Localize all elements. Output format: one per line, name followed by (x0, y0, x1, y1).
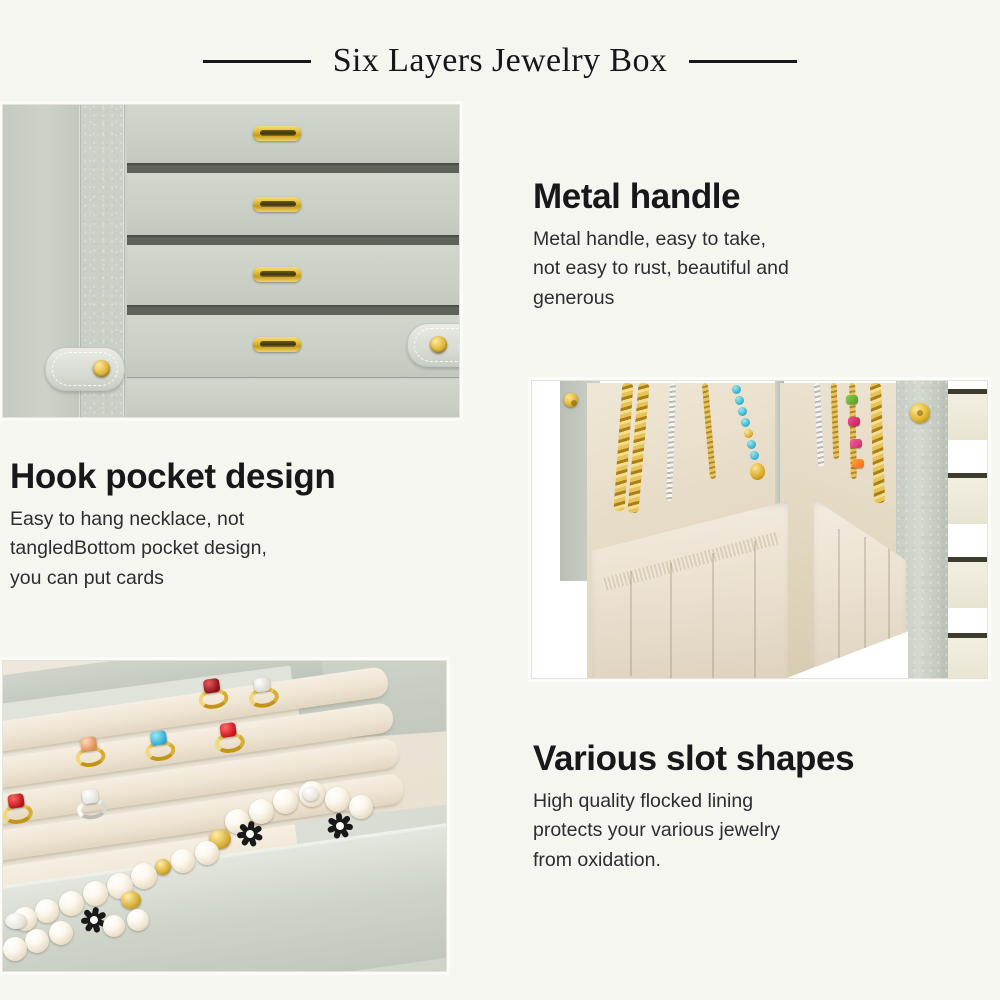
feature-body-various-slot-shapes: High quality flocked lining protects you… (533, 787, 973, 875)
pearl (127, 909, 149, 931)
side-drawer-3 (948, 557, 987, 608)
drawer-gap-2 (127, 237, 459, 245)
pocket-fold (670, 563, 672, 678)
drawer-gap-1 (127, 165, 459, 173)
feature-various-slot-shapes: Various slot shapes High quality flocked… (533, 740, 973, 875)
ring-gem (203, 678, 221, 694)
page-title: Six Layers Jewelry Box (333, 42, 668, 80)
feature-heading-hook-pocket: Hook pocket design (10, 458, 450, 495)
pocket-fold (838, 529, 840, 674)
pearl-necklaces (3, 781, 423, 971)
turquoise-bead (735, 396, 744, 405)
drawer-row-1 (127, 105, 459, 165)
side-drawer-1 (948, 389, 987, 440)
pocket-fold (712, 553, 714, 678)
turquoise-bead (732, 385, 741, 394)
drawer-row-3 (127, 245, 459, 307)
side-drawer-stack (948, 381, 987, 678)
flower-charm-1 (233, 817, 267, 851)
side-drawer-4 (948, 633, 987, 679)
hook-pocket-photo (531, 380, 988, 679)
gold-coin-bead (121, 891, 141, 909)
ring-blue-topaz (141, 729, 179, 764)
gem-orange (852, 459, 864, 468)
pearl (49, 921, 73, 945)
side-gold-button (910, 403, 930, 423)
ring-tray-photo (2, 660, 447, 972)
ring-gem (253, 677, 271, 693)
drawers-photo (2, 104, 460, 418)
pearl (195, 841, 219, 865)
pearl (171, 849, 195, 873)
feature-body-metal-handle: Metal handle, easy to take, not easy to … (533, 225, 953, 313)
turquoise-bead (738, 407, 747, 416)
turquoise-bead (750, 451, 759, 460)
flower-charm-2 (324, 810, 357, 843)
turquoise-bead (747, 440, 756, 449)
lid-gold-stud (564, 393, 578, 407)
leather-strap-right (407, 323, 460, 367)
pearl (3, 937, 27, 961)
ring-gem (219, 722, 237, 738)
crystal-accent (5, 913, 27, 929)
feature-hook-pocket: Hook pocket design Easy to hang necklace… (10, 458, 450, 593)
title-rule-left (203, 60, 311, 63)
drawer-gap-3 (127, 307, 459, 315)
ring-dark-red (194, 677, 232, 712)
drawer-handle-1 (253, 126, 301, 141)
pearl (35, 899, 59, 923)
ring-peach (71, 735, 109, 770)
pearl (103, 915, 125, 937)
drawer-row-2 (127, 173, 459, 237)
feature-metal-handle: Metal handle Metal handle, easy to take,… (533, 178, 953, 313)
gold-bead (155, 859, 171, 875)
side-drawer-2 (948, 473, 987, 524)
leather-strap-left (45, 347, 125, 391)
pearl (25, 929, 49, 953)
pearl (131, 863, 157, 889)
drawer-stack (127, 105, 459, 417)
pearl (83, 881, 108, 906)
ring-gem (150, 730, 168, 746)
turquoise-bead (741, 418, 750, 427)
drawer-handle-3 (253, 267, 301, 282)
drawer-handle-2 (253, 197, 301, 212)
feature-body-hook-pocket: Easy to hang necklace, not tangledBottom… (10, 505, 450, 593)
ring-red (210, 721, 248, 756)
drawer-handle-4 (253, 337, 301, 352)
gem-green (846, 395, 858, 404)
gold-bead (744, 429, 753, 438)
pearl (273, 789, 298, 814)
page-title-row: Six Layers Jewelry Box (0, 36, 1000, 86)
feature-heading-various-slot-shapes: Various slot shapes (533, 740, 973, 777)
gem-magenta (850, 439, 862, 448)
gold-stud-left (93, 360, 110, 377)
gold-stud-right (430, 336, 447, 353)
pocket-fold (754, 541, 756, 678)
ring-clear-crystal (244, 675, 282, 710)
title-rule-right (689, 60, 797, 63)
pearl (325, 787, 350, 812)
infographic-page: Six Layers Jewelry Box (0, 0, 1000, 1000)
ring-gem (80, 736, 98, 752)
pocket-fold (630, 571, 632, 676)
crystal-accent (303, 787, 319, 801)
feature-heading-metal-handle: Metal handle (533, 178, 953, 215)
drawer-row-5 (127, 379, 459, 418)
gem-pink (848, 417, 860, 426)
gold-pendant (750, 463, 765, 480)
